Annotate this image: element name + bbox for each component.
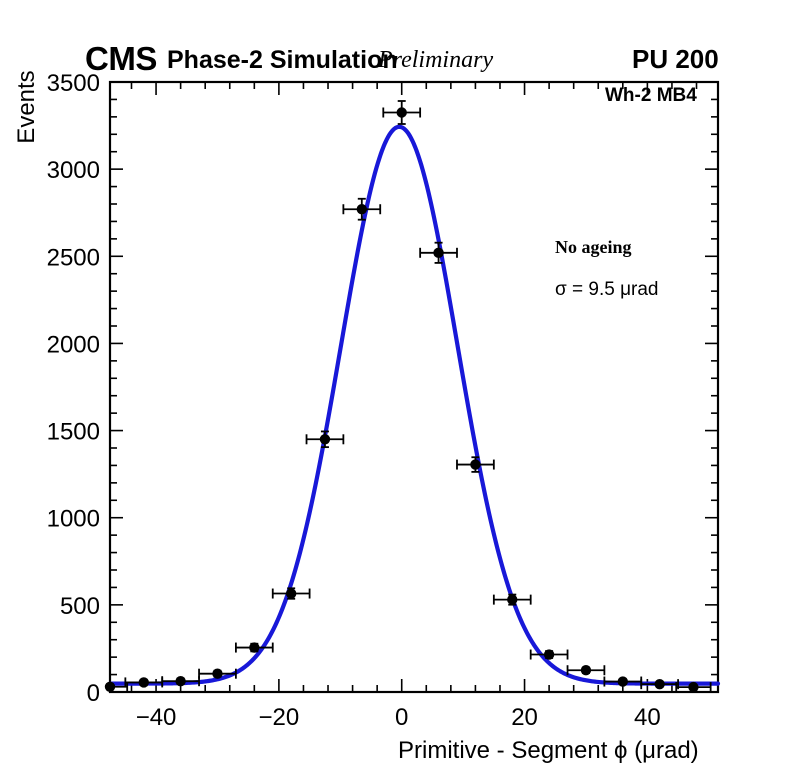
data-point [457,457,494,472]
axes-frame [110,82,718,692]
axis-tick-labels: −40−20020400500100015002000250030003500 [47,70,661,731]
x-tick-label: 20 [511,704,538,731]
y-tick-label: 2500 [47,244,100,271]
cms-logo-label: CMS [85,40,157,78]
y-tick-label: 1500 [47,419,100,446]
y-tick-label: 2000 [47,331,100,358]
data-point [343,199,380,220]
x-tick-label: −40 [136,704,177,731]
axis-ticks [110,82,718,692]
x-axis-title: Primitive - Segment ϕ (μrad) [398,737,699,765]
phase2-simulation-label: Phase-2 Simulation [167,46,398,75]
y-tick-label: 3000 [47,157,100,184]
x-tick-label: 40 [634,704,661,731]
data-point [494,594,531,604]
y-tick-label: 1000 [47,506,100,533]
x-tick-label: −20 [259,704,300,731]
y-tick-label: 0 [87,680,100,707]
pileup-label: PU 200 [632,44,719,75]
data-point [568,665,605,675]
wheel-station-label: Wh-2 MB4 [605,85,697,107]
x-tick-label: 0 [395,704,408,731]
gaussian-fit-curve [110,127,718,684]
resolution-distribution-chart: −40−20020400500100015002000250030003500 [0,0,796,772]
data-point [420,243,457,263]
plot-canvas: CMS Phase-2 Simulation Preliminary PU 20… [0,0,796,772]
data-point [383,101,420,124]
data-point [307,431,344,447]
data-points-group [105,101,711,692]
data-point [273,588,310,598]
ageing-scenario-label: No ageing [555,237,632,258]
fit-curve-path [110,127,718,684]
y-tick-label: 500 [60,593,100,620]
sigma-value-label: σ = 9.5 μrad [555,279,658,301]
preliminary-label: Preliminary [378,47,493,74]
y-axis-title: Events [13,52,41,162]
